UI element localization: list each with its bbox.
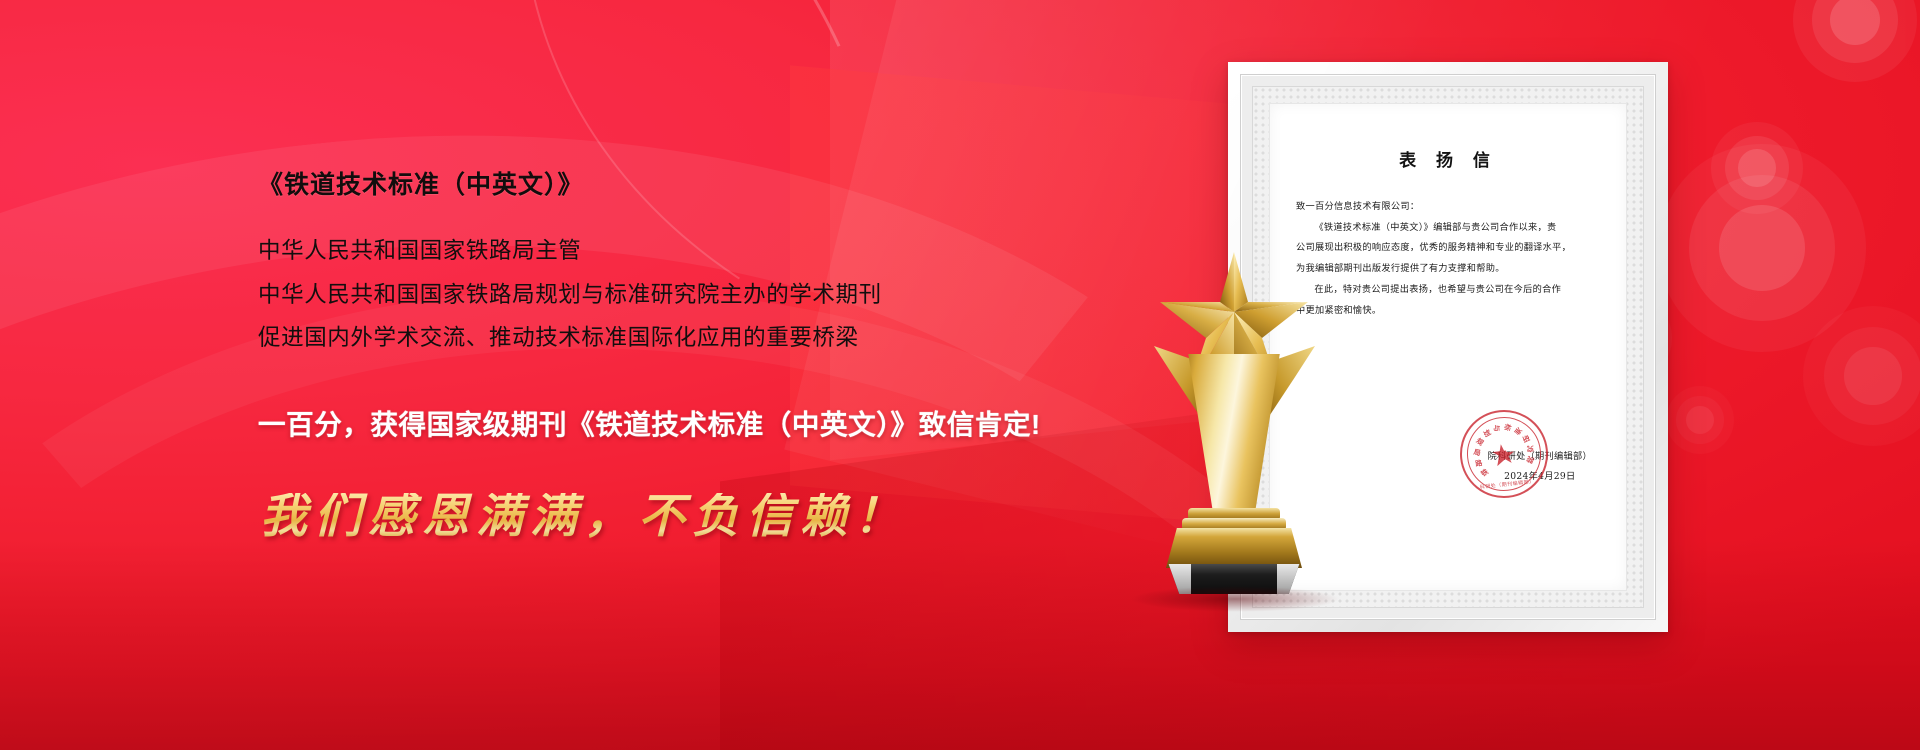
journal-title: 《铁道技术标准（中英文）》: [258, 170, 1138, 200]
banner-copy: 《铁道技术标准（中英文）》 中华人民共和国国家铁路局主管 中华人民共和国国家铁路…: [258, 170, 1138, 540]
trophy-base: [1166, 528, 1302, 568]
sub-line-2: 中华人民共和国国家铁路局规划与标准研究院主办的学术期刊: [258, 284, 1138, 307]
bubble-decor: [1658, 144, 1866, 352]
bubble-decor: [1711, 122, 1803, 214]
gold-star-trophy-icon: [1120, 250, 1350, 580]
sub-line-3: 促进国内外学术交流、推动技术标准国际化应用的重要桥梁: [258, 327, 1138, 350]
official-seal-icon: 铁路局规划与标准研究院 科研处（期刊编辑部）: [1456, 406, 1553, 503]
promo-banner: 《铁道技术标准（中英文）》 中华人民共和国国家铁路局主管 中华人民共和国国家铁路…: [0, 0, 1920, 750]
certificate-salutation: 致一百分信息技术有限公司：: [1296, 197, 1600, 218]
trophy-cup: [1182, 354, 1286, 514]
bubble-decor: [1793, 0, 1917, 82]
certificate-title: 表 扬 信: [1296, 146, 1600, 171]
calligraphy-slogan: 我们感恩满满，不负信赖！: [260, 493, 1138, 540]
sub-line-1: 中华人民共和国国家铁路局主管: [258, 240, 1138, 263]
bubble-decor: [1803, 306, 1920, 446]
bubble-decor: [1666, 386, 1734, 454]
headline: 一百分，获得国家级期刊《铁道技术标准（中英文）》致信肯定!: [258, 408, 1138, 441]
trophy-shadow: [1130, 586, 1340, 612]
certificate-paragraph: 《铁道技术标准（中英文）》编辑部与贵公司合作以来，贵: [1296, 218, 1600, 239]
